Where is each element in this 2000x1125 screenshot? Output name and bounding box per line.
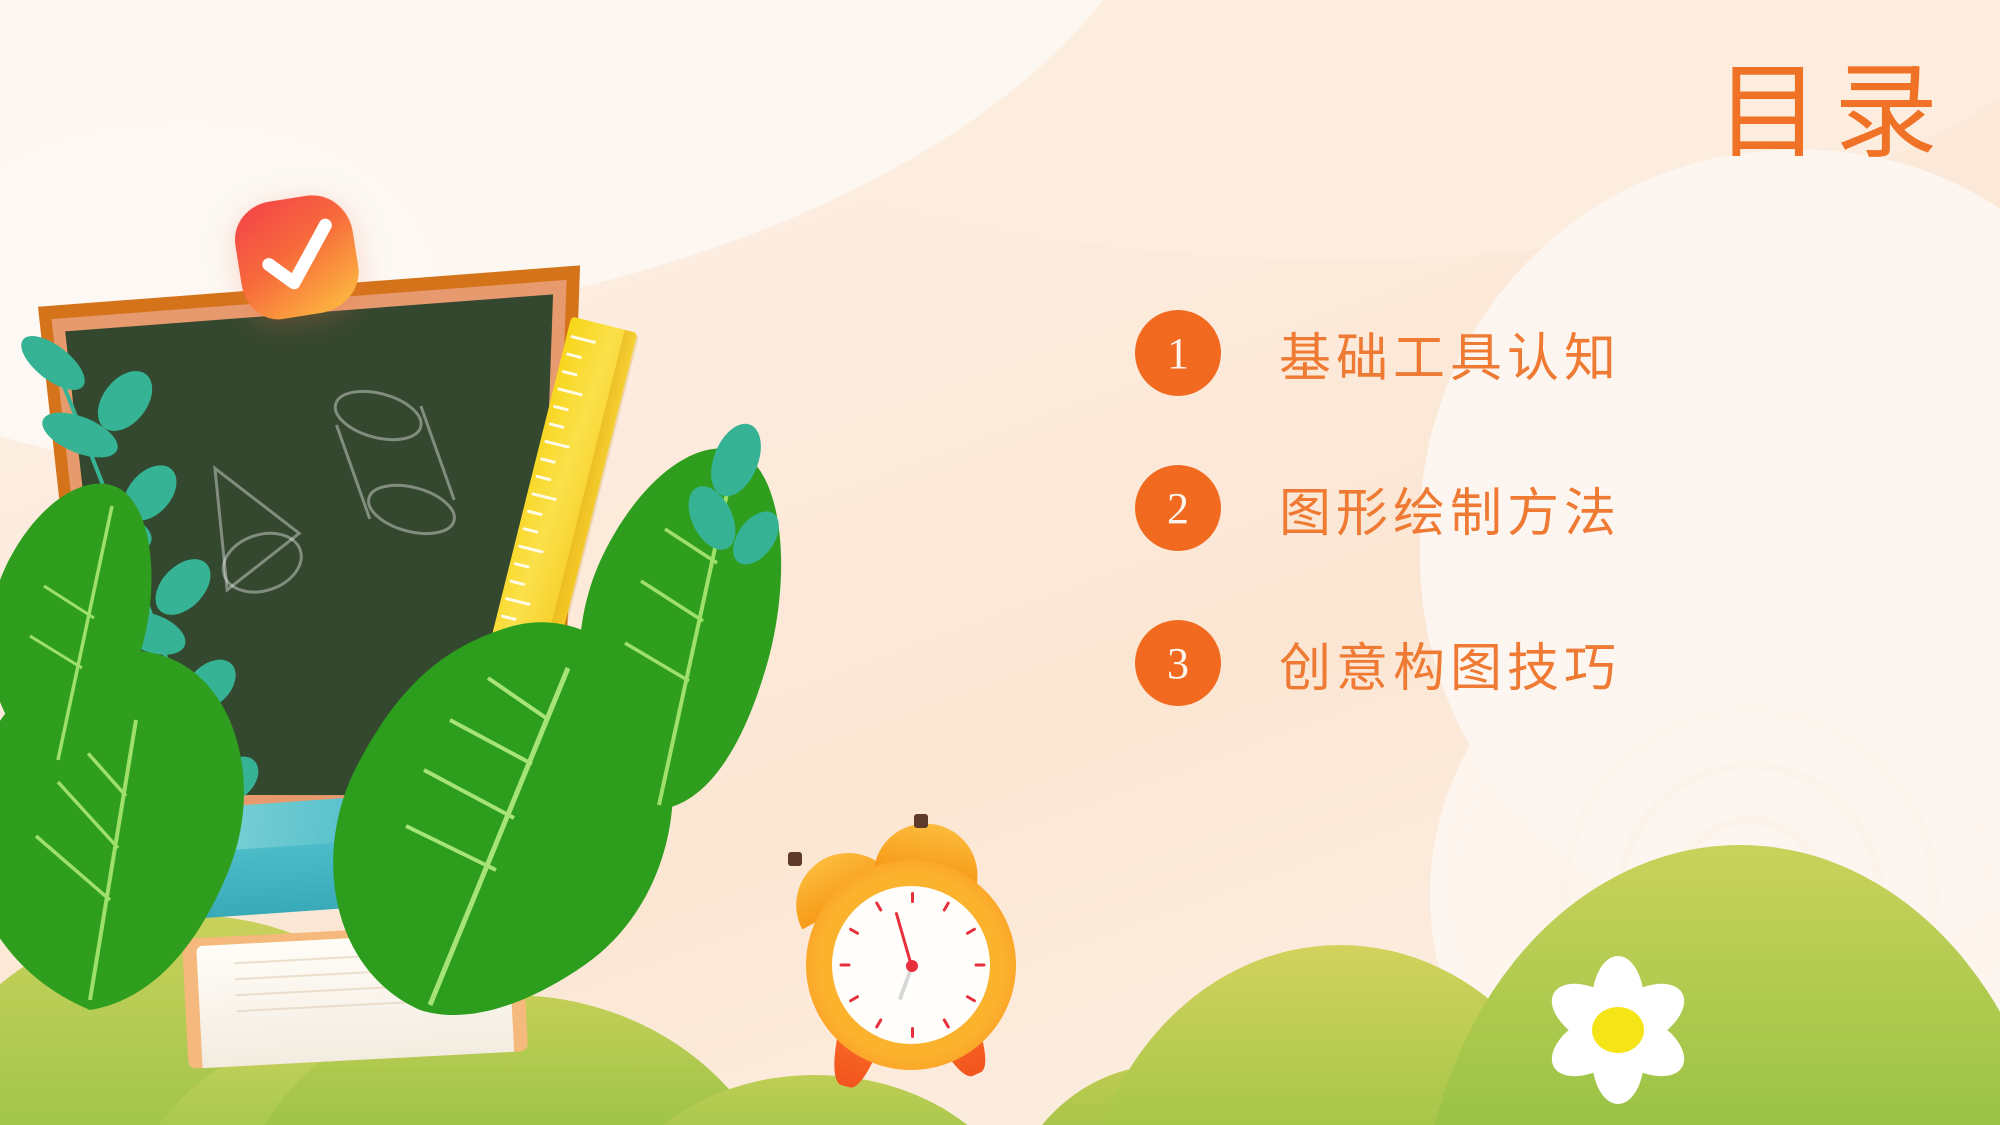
clock-knob bbox=[914, 814, 928, 828]
toc-item-1[interactable]: 1 基础工具认知 bbox=[1135, 298, 1835, 408]
toc-item-label: 基础工具认知 bbox=[1279, 316, 1621, 391]
page-title: 目录 bbox=[1716, 52, 1952, 177]
daisy-flower-icon bbox=[1530, 955, 1705, 1105]
clock-knob bbox=[788, 852, 802, 866]
table-of-contents: 1 基础工具认知 2 图形绘制方法 3 创意构图技巧 bbox=[1135, 298, 1835, 763]
toc-item-label: 图形绘制方法 bbox=[1279, 471, 1621, 546]
check-icon bbox=[229, 189, 364, 324]
slide-canvas: 目录 1 基础工具认知 2 图形绘制方法 3 创意构图技巧 bbox=[0, 0, 2000, 1125]
toc-number-badge: 1 bbox=[1135, 310, 1221, 396]
clock-minute-hand bbox=[895, 912, 913, 967]
oak-leaf-icon bbox=[0, 440, 170, 770]
clock-center-pin bbox=[906, 960, 918, 972]
check-badge-icon bbox=[229, 189, 364, 324]
toc-number-badge: 3 bbox=[1135, 620, 1221, 706]
daisy-center bbox=[1592, 1007, 1644, 1053]
toc-number-badge: 2 bbox=[1135, 465, 1221, 551]
toc-item-3[interactable]: 3 创意构图技巧 bbox=[1135, 608, 1835, 718]
leaf-sprig-icon bbox=[678, 420, 798, 620]
toc-item-2[interactable]: 2 图形绘制方法 bbox=[1135, 453, 1835, 563]
toc-item-label: 创意构图技巧 bbox=[1279, 626, 1621, 701]
clock-face bbox=[832, 886, 990, 1044]
hill-shape bbox=[1420, 845, 2000, 1125]
alarm-clock-icon bbox=[790, 800, 1040, 1100]
